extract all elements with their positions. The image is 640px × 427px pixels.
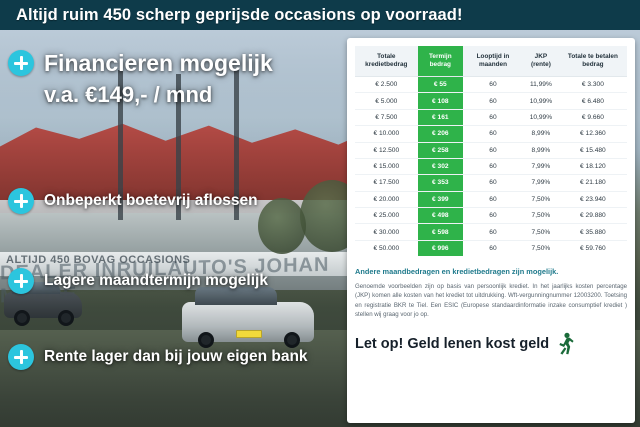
table-cell: 60: [463, 109, 523, 125]
notes-body: Genoemde voorbeelden zijn op basis van p…: [355, 282, 627, 320]
table-cell: 7,99%: [523, 175, 559, 191]
table-cell: € 15.000: [355, 158, 418, 174]
table-cell: € 108: [418, 93, 463, 109]
table-cell: 60: [463, 175, 523, 191]
table-cell: € 10.000: [355, 126, 418, 142]
plus-icon: [8, 50, 34, 76]
table-cell: € 9.660: [559, 109, 627, 125]
headline-text: Altijd ruim 450 scherp geprijsde occasio…: [0, 6, 463, 25]
benefit-item-2: Lagere maandtermijn mogelijk: [8, 268, 268, 294]
col-header-total-payable: Totale te betalen bedrag: [559, 46, 627, 77]
table-cell: 60: [463, 208, 523, 224]
table-cell: € 18.120: [559, 158, 627, 174]
rates-card: Totale kredietbedrag Termijn bedrag Loop…: [347, 38, 635, 423]
table-row: € 17.500€ 353607,99%€ 21.180: [355, 175, 627, 191]
table-cell: € 7.500: [355, 109, 418, 125]
advertisement-page: DEALER INRUILAUTO'S JOHAN MEURE ALTIJD 4…: [0, 0, 640, 427]
table-cell: € 12.360: [559, 126, 627, 142]
plus-icon: [8, 268, 34, 294]
plus-icon: [8, 188, 34, 214]
benefit-item-3: Rente lager dan bij jouw eigen bank: [8, 344, 308, 370]
rates-table-body: € 2.500€ 556011,99%€ 3.300€ 5.000€ 10860…: [355, 77, 627, 257]
table-cell: € 55: [418, 77, 463, 93]
col-header-term: Looptijd in maanden: [463, 46, 523, 77]
col-header-monthly: Termijn bedrag: [418, 46, 463, 77]
table-cell: 60: [463, 224, 523, 240]
table-row: € 20.000€ 399607,50%€ 23.940: [355, 191, 627, 207]
table-row: € 10.000€ 206608,99%€ 12.360: [355, 126, 627, 142]
table-row: € 5.000€ 1086010,99%€ 6.480: [355, 93, 627, 109]
table-cell: € 3.300: [559, 77, 627, 93]
hero-benefit: Financieren mogelijk: [8, 50, 273, 76]
table-cell: € 15.480: [559, 142, 627, 158]
col-header-total-credit: Totale kredietbedrag: [355, 46, 418, 77]
table-cell: € 25.000: [355, 208, 418, 224]
rates-table: Totale kredietbedrag Termijn bedrag Loop…: [355, 46, 627, 256]
table-cell: 7,50%: [523, 240, 559, 256]
table-cell: 7,50%: [523, 191, 559, 207]
table-cell: 60: [463, 240, 523, 256]
benefit-label: Onbeperkt boetevrij aflossen: [44, 192, 258, 210]
table-cell: € 996: [418, 240, 463, 256]
benefit-item-1: Onbeperkt boetevrij aflossen: [8, 188, 258, 214]
table-cell: 10,99%: [523, 109, 559, 125]
table-cell: € 35.880: [559, 224, 627, 240]
table-row: € 30.000€ 598607,50%€ 35.880: [355, 224, 627, 240]
table-cell: 11,99%: [523, 77, 559, 93]
table-cell: € 206: [418, 126, 463, 142]
table-cell: 7,50%: [523, 208, 559, 224]
table-cell: 7,99%: [523, 158, 559, 174]
table-row: € 15.000€ 302607,99%€ 18.120: [355, 158, 627, 174]
table-cell: 8,99%: [523, 142, 559, 158]
walking-person-icon: [555, 332, 575, 356]
table-cell: € 21.180: [559, 175, 627, 191]
col-header-apr: JKP (rente): [523, 46, 559, 77]
table-cell: € 6.480: [559, 93, 627, 109]
table-cell: 10,99%: [523, 93, 559, 109]
table-cell: € 302: [418, 158, 463, 174]
table-cell: € 17.500: [355, 175, 418, 191]
table-cell: € 5.000: [355, 93, 418, 109]
table-cell: € 29.880: [559, 208, 627, 224]
table-cell: € 399: [418, 191, 463, 207]
table-cell: 60: [463, 142, 523, 158]
table-cell: 8,99%: [523, 126, 559, 142]
table-cell: 7,50%: [523, 224, 559, 240]
table-row: € 7.500€ 1616010,99%€ 9.660: [355, 109, 627, 125]
table-row: € 25.000€ 498607,50%€ 29.880: [355, 208, 627, 224]
table-cell: € 353: [418, 175, 463, 191]
table-cell: € 598: [418, 224, 463, 240]
table-cell: € 498: [418, 208, 463, 224]
table-row: € 12.500€ 258608,99%€ 15.480: [355, 142, 627, 158]
table-cell: € 258: [418, 142, 463, 158]
table-cell: € 30.000: [355, 224, 418, 240]
table-cell: 60: [463, 126, 523, 142]
table-cell: 60: [463, 77, 523, 93]
table-cell: 60: [463, 158, 523, 174]
table-header-row: Totale kredietbedrag Termijn bedrag Loop…: [355, 46, 627, 77]
table-cell: € 20.000: [355, 191, 418, 207]
table-cell: € 23.940: [559, 191, 627, 207]
benefit-label: Rente lager dan bij jouw eigen bank: [44, 348, 308, 366]
notes-title: Andere maandbedragen en kredietbedragen …: [355, 267, 627, 277]
warning-block: Let op! Geld lenen kost geld: [355, 332, 627, 356]
table-cell: € 2.500: [355, 77, 418, 93]
headline-bar: Altijd ruim 450 scherp geprijsde occasio…: [0, 0, 640, 30]
table-cell: € 161: [418, 109, 463, 125]
benefits-column: Financieren mogelijk v.a. €149,- / mnd O…: [0, 36, 346, 427]
table-row: € 2.500€ 556011,99%€ 3.300: [355, 77, 627, 93]
table-cell: € 50.000: [355, 240, 418, 256]
hero-subtitle: v.a. €149,- / mnd: [44, 82, 212, 108]
table-row: € 50.000€ 996607,50%€ 59.760: [355, 240, 627, 256]
warning-text: Let op! Geld lenen kost geld: [355, 336, 549, 352]
plus-icon: [8, 344, 34, 370]
table-cell: 60: [463, 93, 523, 109]
benefit-label: Lagere maandtermijn mogelijk: [44, 272, 268, 290]
table-cell: € 12.500: [355, 142, 418, 158]
table-cell: 60: [463, 191, 523, 207]
table-cell: € 59.760: [559, 240, 627, 256]
hero-title: Financieren mogelijk: [44, 50, 273, 76]
